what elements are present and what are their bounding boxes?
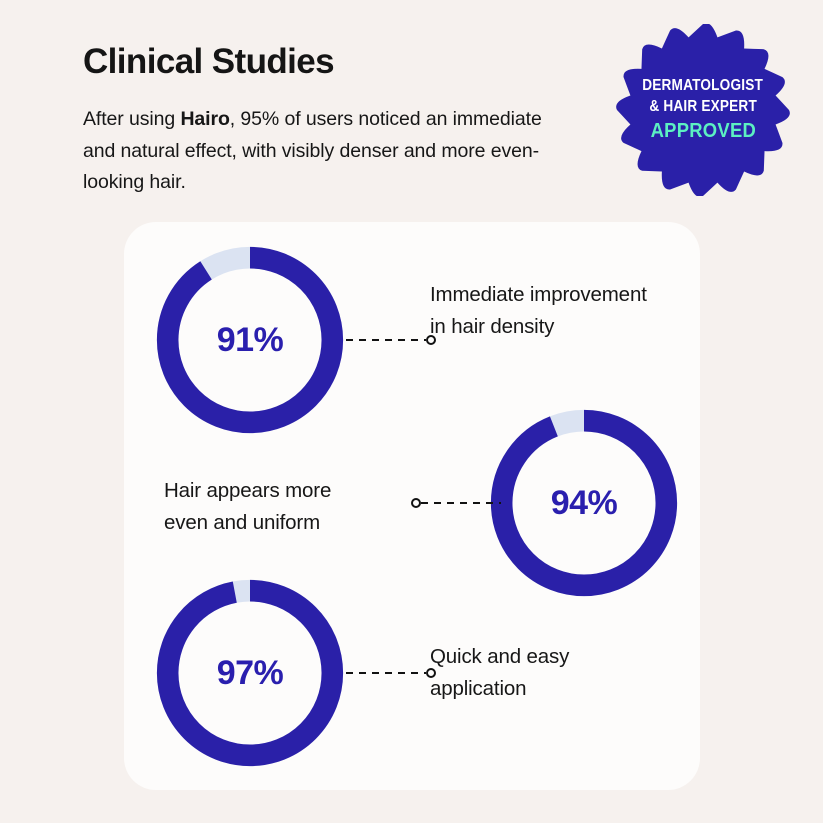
dashed-connector-icon	[346, 666, 438, 680]
donut-label-density: Immediate improvement in hair density	[430, 279, 665, 344]
donut-value-application: 97%	[152, 575, 348, 771]
intro-brand: Hairo	[180, 108, 229, 130]
donut-label-application: Quick and easy application	[430, 641, 640, 706]
header: Clinical Studies After using Hairo, 95% …	[83, 42, 583, 218]
connector-line-application	[346, 666, 438, 680]
page-root: Clinical Studies After using Hairo, 95% …	[0, 0, 823, 823]
connector-line-density	[346, 333, 438, 347]
dashed-connector-icon	[346, 333, 438, 347]
badge-starburst-icon	[613, 24, 793, 196]
connector-line-evenness	[409, 496, 501, 510]
donut-label-evenness: Hair appears more even and uniform	[164, 475, 379, 540]
page-title: Clinical Studies	[83, 42, 583, 82]
dashed-connector-icon	[409, 496, 501, 510]
donut-chart-evenness: 94%	[486, 405, 682, 601]
stats-card: 91% Immediate improvement in hair densit…	[124, 222, 700, 790]
intro-prefix: After using	[83, 108, 180, 130]
intro-paragraph: After using Hairo, 95% of users noticed …	[83, 104, 575, 199]
approved-badge: DERMATOLOGIST & HAIR EXPERT APPROVED	[613, 24, 793, 196]
donut-value-evenness: 94%	[486, 405, 682, 601]
donut-chart-application: 97%	[152, 575, 348, 771]
donut-value-density: 91%	[152, 242, 348, 438]
donut-chart-density: 91%	[152, 242, 348, 438]
